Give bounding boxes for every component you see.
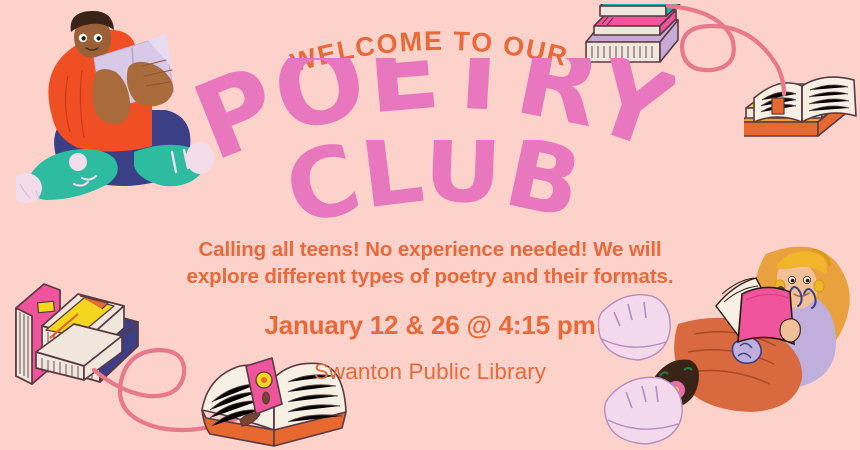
pink-swirl-line	[660, 4, 790, 96]
body-line-2: explore different types of poetry and th…	[0, 263, 860, 290]
event-venue: Swanton Public Library	[0, 359, 860, 385]
open-book-on-books-illustration	[744, 60, 860, 160]
poster-text-block: Calling all teens! No experience needed!…	[0, 236, 860, 385]
title-line2: CLUB	[280, 140, 590, 245]
event-date-time: January 12 & 26 @ 4:15 pm	[0, 310, 860, 341]
seated-reader-illustration	[16, 6, 216, 216]
body-line-1: Calling all teens! No experience needed!…	[0, 236, 860, 263]
title-line2-text: CLUB	[280, 140, 590, 245]
poster-canvas: WELCOME TO OUR POETRY CLUB Calling all t…	[0, 0, 860, 450]
svg-text:CLUB: CLUB	[280, 140, 590, 245]
